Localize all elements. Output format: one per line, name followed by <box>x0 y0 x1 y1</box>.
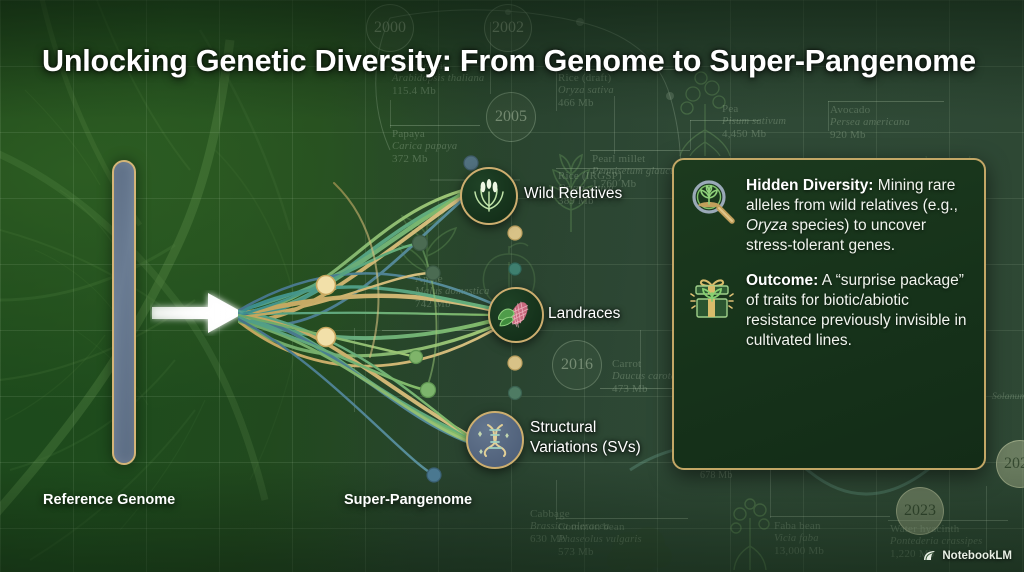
node-label-landraces: Landraces <box>548 304 620 324</box>
watermark-label: NotebookLM <box>942 550 1012 562</box>
notebooklm-logo-icon <box>923 549 937 563</box>
node-label-structural-variations: Structural Variations (SVs) <box>530 418 660 459</box>
sidebar-item-structural-variations[interactable] <box>466 411 524 469</box>
super-pangenome-label: Super-Pangenome <box>344 492 472 508</box>
gift-sprout-icon <box>688 273 736 321</box>
bullet-text-hidden-diversity: Hidden Diversity: Mining rare alleles fr… <box>746 176 970 257</box>
poster-entry-species: Pennisetum glaucum <box>592 166 683 178</box>
poster-entry-size: 920 Mb <box>830 129 910 142</box>
poster-entry-species: Daucus carota <box>612 371 676 383</box>
right-arrow-icon <box>150 290 246 336</box>
poster-entry-name: Papaya <box>392 128 457 141</box>
bullet-emphasis: Oryza <box>746 217 787 234</box>
dna-helix-icon <box>476 421 514 459</box>
poster-entry-size: 4,450 Mb <box>722 128 786 141</box>
info-panel: Hidden Diversity: Mining rare alleles fr… <box>672 158 986 470</box>
bullet-outcome: Outcome: A “surprise package” of traits … <box>688 271 970 352</box>
node-label-wild-relatives: Wild Relatives <box>524 184 622 204</box>
notebooklm-watermark: NotebookLM <box>923 549 1012 563</box>
wild-grass-icon <box>471 178 507 214</box>
sidebar-item-landraces[interactable] <box>488 287 544 343</box>
magnifier-sprout-icon <box>688 178 736 226</box>
poster-entry-name: Pearl millet <box>592 153 683 166</box>
bullet-heading: Outcome: <box>746 272 818 289</box>
page-title: Unlocking Genetic Diversity: From Genome… <box>42 44 976 79</box>
poster-entry-size: 473 Mb <box>612 383 676 396</box>
reference-genome-label: Reference Genome <box>43 492 175 508</box>
sidebar-item-wild-relatives[interactable] <box>460 167 518 225</box>
genome-bar-icon <box>112 160 136 465</box>
bullet-hidden-diversity: Hidden Diversity: Mining rare alleles fr… <box>688 176 970 257</box>
bullet-heading: Hidden Diversity: <box>746 177 873 194</box>
slide-canvas: 2000 2002 2005 2016 2023 2024 <box>0 0 1024 572</box>
corn-cob-icon <box>498 297 534 333</box>
bullet-text-outcome: Outcome: A “surprise package” of traits … <box>746 271 970 352</box>
poster-entry-name: Carrot <box>612 358 676 371</box>
poster-entry-species: Solanum lycopersicum <box>992 392 1024 403</box>
